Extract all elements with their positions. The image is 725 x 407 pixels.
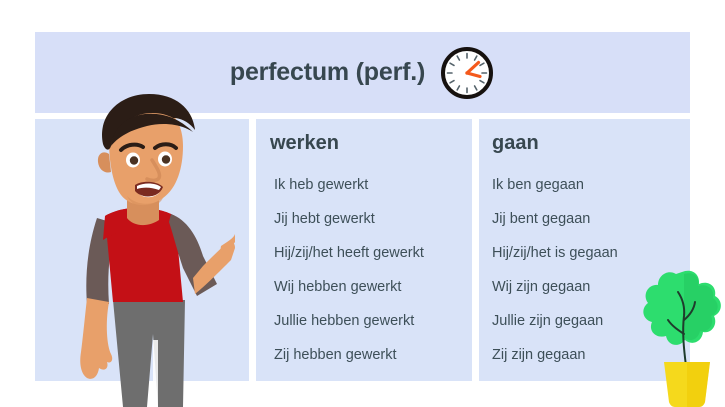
illustration-panel <box>35 119 249 381</box>
column-heading: gaan <box>492 133 690 153</box>
header-band: perfectum (perf.) <box>35 32 690 113</box>
conjugation-column-gaan: gaan Ik ben gegaan Jij bent gegaan Hij/z… <box>479 119 690 381</box>
conjugation-row: Ik ben gegaan <box>492 168 690 202</box>
conjugation-row: Ik heb gewerkt <box>270 168 472 202</box>
conjugation-row: Jullie hebben gewerkt <box>270 304 472 338</box>
conjugation-row: Zij hebben gewerkt <box>270 338 472 372</box>
column-heading: werken <box>270 133 472 153</box>
conjugation-row: Hij/zij/het is gegaan <box>492 236 690 270</box>
conjugation-row: Wij zijn gegaan <box>492 270 690 304</box>
conjugation-row: Jullie zijn gegaan <box>492 304 690 338</box>
conjugation-row: Hij/zij/het heeft gewerkt <box>270 236 472 270</box>
conjugation-column-werken: werken Ik heb gewerkt Jij hebt gewerkt H… <box>256 119 472 381</box>
slide-canvas: perfectum (perf.) <box>0 0 725 407</box>
conjugation-row: Jij bent gegaan <box>492 202 690 236</box>
conjugation-row: Zij zijn gegaan <box>492 338 690 372</box>
conjugation-row: Wij hebben gewerkt <box>270 270 472 304</box>
clock-icon <box>439 45 495 101</box>
page-title: perfectum (perf.) <box>230 58 425 87</box>
conjugation-row: Jij hebt gewerkt <box>270 202 472 236</box>
